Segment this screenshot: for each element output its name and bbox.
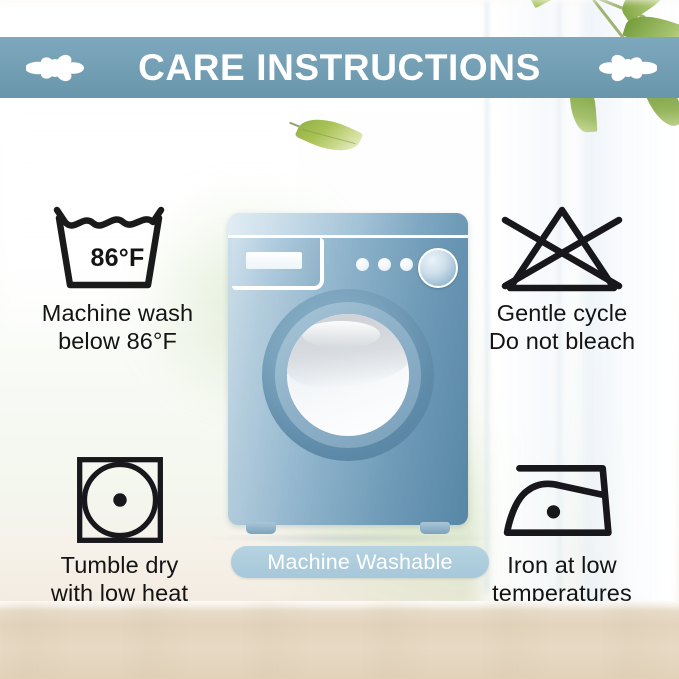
detergent-drawer — [232, 238, 324, 290]
care-symbol-caption: Machine wash below 86°F — [10, 300, 225, 355]
care-symbol-iron-low-temp: Iron at low temperatures — [453, 448, 671, 607]
fleur-de-lis-icon — [599, 46, 657, 90]
door-inner-ring — [275, 302, 421, 448]
header-banner: CARE INSTRUCTIONS — [0, 37, 679, 98]
wash-temperature-label: 86°F — [43, 244, 193, 273]
washing-machine-foot-right — [420, 522, 450, 534]
washing-machine-top-lid — [228, 213, 468, 238]
detergent-drawer-slot — [246, 252, 302, 269]
care-symbol-tumble-dry-low: Tumble dry with low heat — [12, 448, 227, 607]
indicator-light-2 — [378, 258, 391, 271]
machine-washable-badge: Machine Washable — [231, 546, 489, 578]
washing-machine-control-panel — [228, 238, 468, 286]
wood-grain — [0, 601, 679, 679]
washing-machine-door — [262, 289, 434, 461]
indicator-lights — [356, 258, 413, 271]
door-glass-highlight — [302, 321, 380, 348]
care-instructions-infographic: CARE INSTRUCTIONS — [0, 0, 679, 679]
triangle-crossed-no-bleach-icon — [453, 196, 671, 300]
indicator-light-3 — [400, 258, 413, 271]
care-symbol-machine-wash: 86°F Machine wash below 86°F — [10, 196, 225, 355]
care-symbol-gentle-cycle-no-bleach: Gentle cycle Do not bleach — [453, 196, 671, 355]
wood-table-edge — [0, 0, 679, 4]
door-glass — [287, 314, 409, 436]
care-symbol-caption: Gentle cycle Do not bleach — [453, 300, 671, 355]
washing-machine-foot-left — [246, 522, 276, 534]
program-dial-knob — [418, 248, 458, 288]
washing-machine-shadow — [200, 532, 500, 544]
washing-machine-illustration — [228, 213, 468, 525]
wood-table-surface — [0, 601, 679, 679]
wash-tub-icon: 86°F — [10, 196, 225, 300]
tumble-dry-square-circle-one-dot-icon — [12, 448, 227, 552]
page-title: CARE INSTRUCTIONS — [0, 37, 679, 98]
indicator-light-1 — [356, 258, 369, 271]
care-symbol-caption: Tumble dry with low heat — [12, 552, 227, 607]
